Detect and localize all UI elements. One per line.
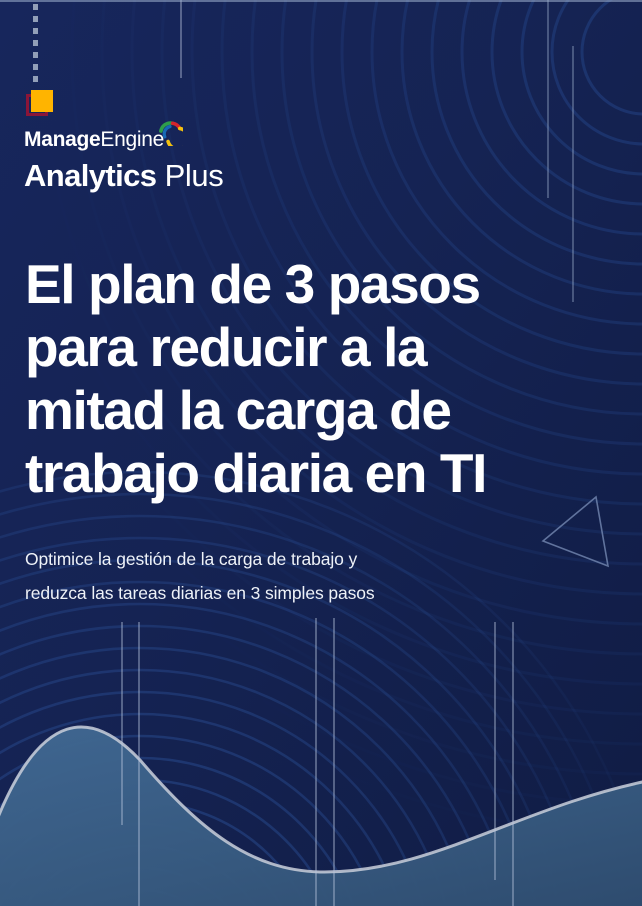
company-name-bold: Manage — [24, 129, 100, 150]
yellow-square-icon — [31, 90, 53, 112]
headline-line-2: para reducir a la — [25, 316, 615, 379]
company-wordmark: Manage Engine — [24, 129, 444, 153]
brand-lockup: Manage Engine Analytics Plus — [24, 129, 444, 191]
subtitle-line-2: reduzca las tareas diarias en 3 simples … — [25, 576, 495, 610]
top-edge-hairline — [0, 0, 642, 2]
company-name-light: Engine — [100, 129, 164, 150]
vertical-dashed-line-icon — [33, 4, 38, 88]
cover-headline: El plan de 3 pasos para reducir a la mit… — [25, 253, 615, 505]
headline-line-1: El plan de 3 pasos — [25, 253, 615, 316]
outlined-triangle — [543, 497, 608, 566]
product-name-suffix: Plus — [165, 158, 224, 193]
headline-line-4: trabajo diaria en TI — [25, 442, 615, 505]
steel-blue-wave-fill — [0, 727, 642, 906]
product-name-light — [156, 158, 164, 193]
concentric-rings-bottom-left — [0, 472, 642, 906]
subtitle-line-1: Optimice la gestión de la carga de traba… — [25, 542, 495, 576]
manageengine-swirl-icon — [157, 120, 183, 146]
product-wordmark: Analytics Plus — [24, 160, 444, 191]
cover-subtitle: Optimice la gestión de la carga de traba… — [25, 542, 495, 610]
headline-line-3: mitad la carga de — [25, 379, 615, 442]
product-name-bold: Analytics — [24, 158, 156, 193]
cover-page: Manage Engine Analytics Plus El plan de … — [0, 0, 642, 906]
s-curve-wave-line — [0, 727, 642, 872]
manageengine-square-mark — [24, 0, 64, 120]
